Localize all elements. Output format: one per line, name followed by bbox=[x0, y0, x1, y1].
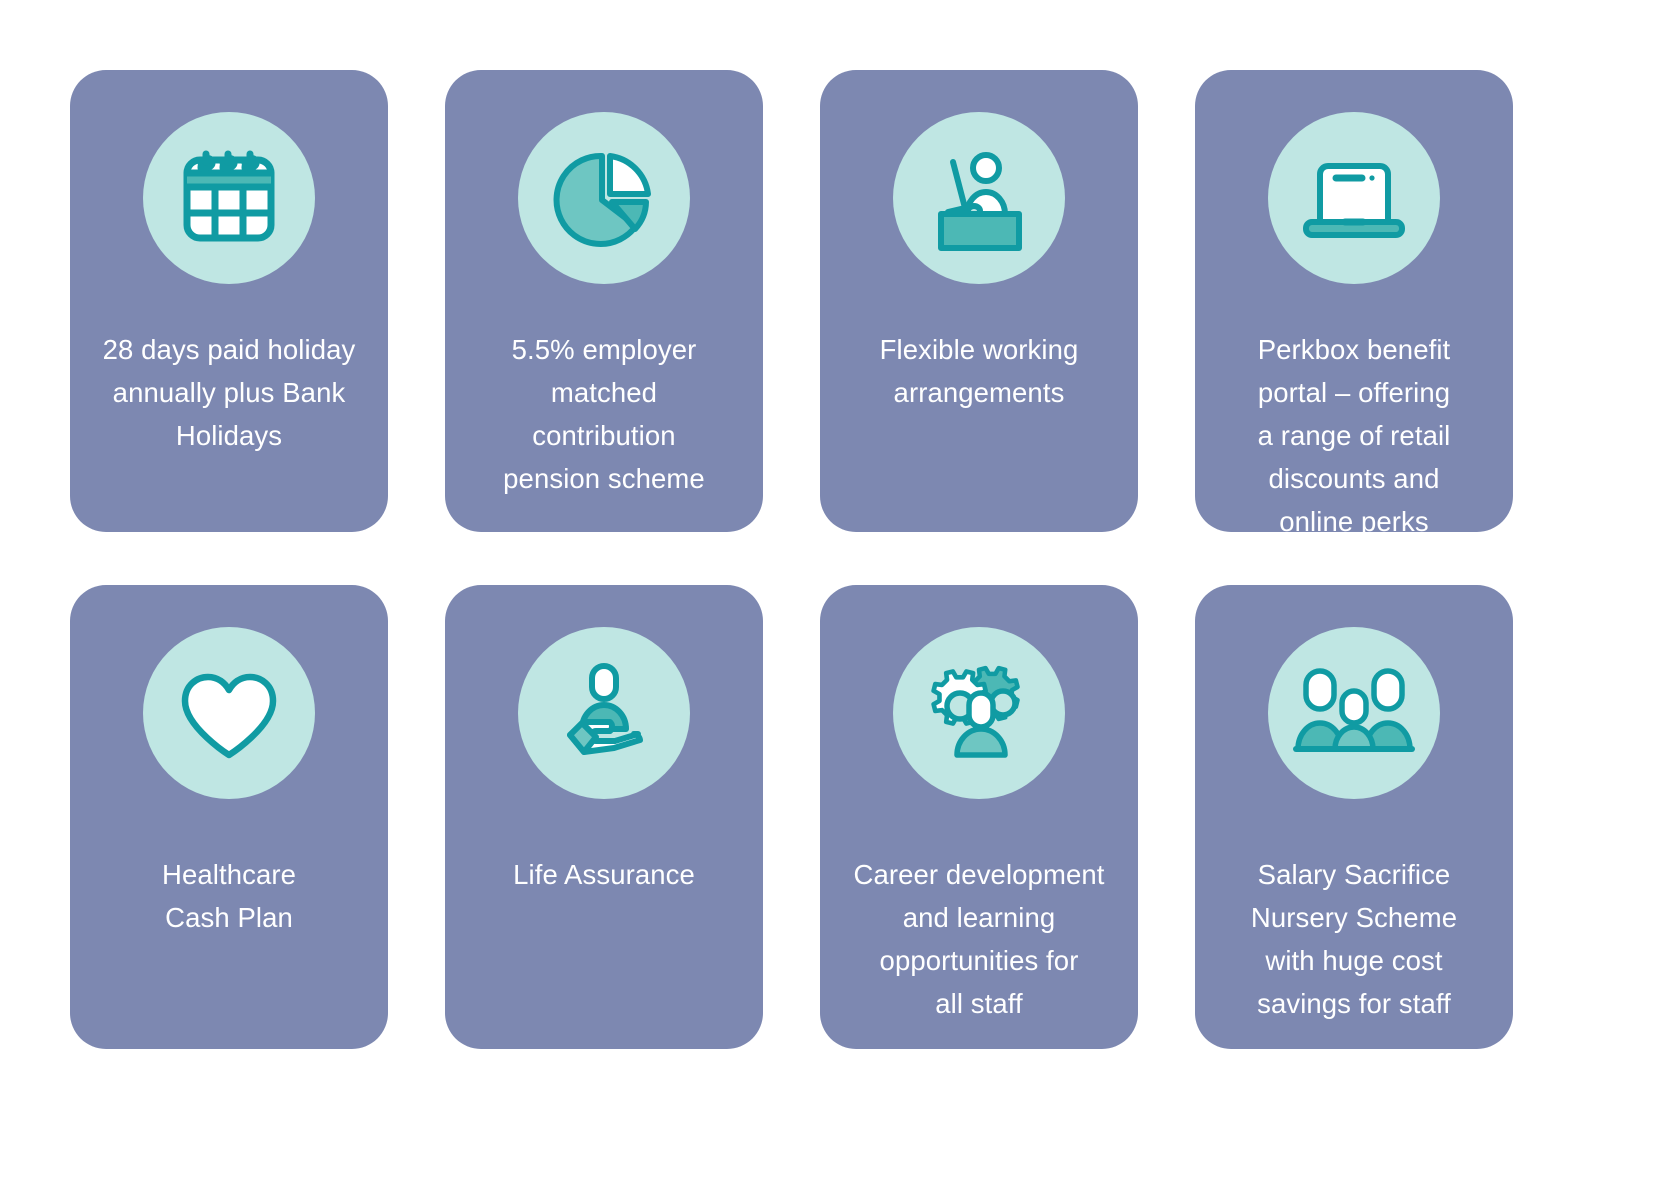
benefit-label: 28 days paid holiday annually plus Bank … bbox=[89, 328, 370, 457]
benefit-card-perkbox[interactable]: Perkbox benefit portal – offering a rang… bbox=[1195, 70, 1513, 532]
benefit-card-flexible-working[interactable]: Flexible working arrangements bbox=[820, 70, 1138, 532]
gears-person-icon bbox=[893, 627, 1065, 799]
benefit-card-healthcare[interactable]: Healthcare Cash Plan bbox=[70, 585, 388, 1049]
benefit-label: Salary Sacrifice Nursery Scheme with hug… bbox=[1237, 853, 1471, 1025]
laptop-icon bbox=[1268, 112, 1440, 284]
benefit-card-pension[interactable]: 5.5% employer matched contribution pensi… bbox=[445, 70, 763, 532]
benefit-label: Life Assurance bbox=[499, 853, 709, 896]
hand-holding-person-icon bbox=[518, 627, 690, 799]
benefit-label: Flexible working arrangements bbox=[866, 328, 1093, 414]
benefit-label: Perkbox benefit portal – offering a rang… bbox=[1244, 328, 1465, 543]
pie-chart-icon bbox=[518, 112, 690, 284]
calendar-icon bbox=[143, 112, 315, 284]
benefit-label: 5.5% employer matched contribution pensi… bbox=[489, 328, 719, 500]
benefit-card-life-assurance[interactable]: Life Assurance bbox=[445, 585, 763, 1049]
benefit-card-career-development[interactable]: Career development and learning opportun… bbox=[820, 585, 1138, 1049]
benefit-card-nursery-scheme[interactable]: Salary Sacrifice Nursery Scheme with hug… bbox=[1195, 585, 1513, 1049]
heart-icon bbox=[143, 627, 315, 799]
benefit-label: Career development and learning opportun… bbox=[840, 853, 1119, 1025]
desk-worker-icon bbox=[893, 112, 1065, 284]
benefit-card-paid-holiday[interactable]: 28 days paid holiday annually plus Bank … bbox=[70, 70, 388, 532]
benefits-grid: 28 days paid holiday annually plus Bank … bbox=[0, 0, 1653, 1178]
benefit-label: Healthcare Cash Plan bbox=[148, 853, 310, 939]
family-group-icon bbox=[1268, 627, 1440, 799]
